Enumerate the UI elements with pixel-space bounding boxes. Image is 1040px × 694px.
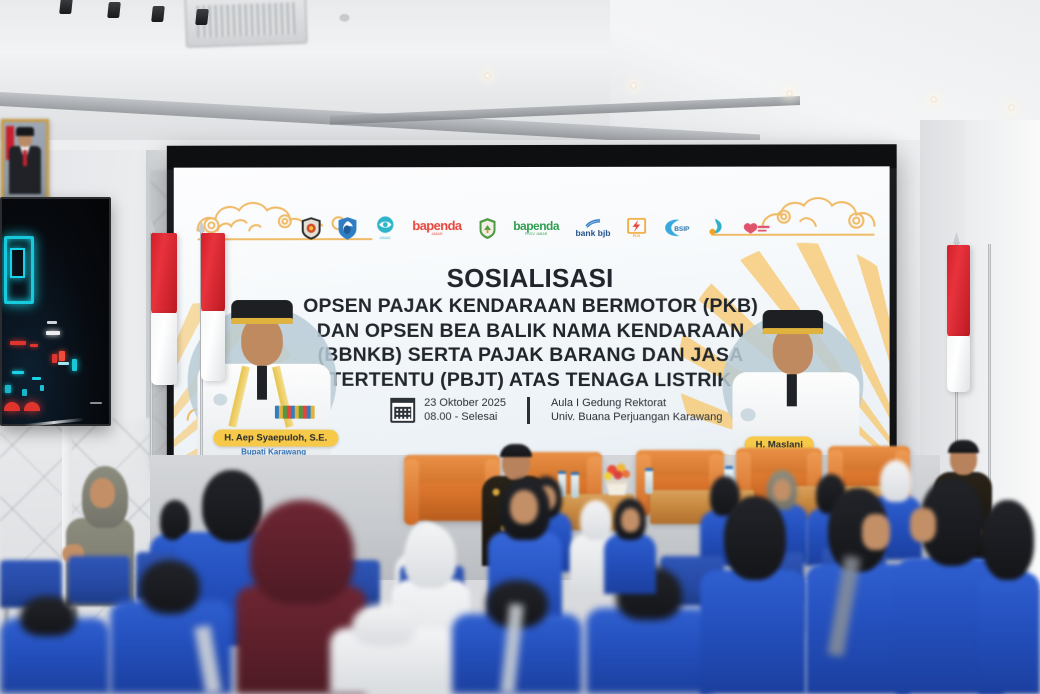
ceiling-spotlight — [786, 90, 793, 97]
event-time: 08.00 - Selesai — [424, 410, 506, 424]
indonesian-flag-left-2-red — [201, 233, 225, 313]
svg-text:BSIP: BSIP — [674, 226, 689, 233]
projection-screen: DINAS bapenda JABAR bapenda PROV JABAR b… — [174, 166, 890, 463]
water-bottle — [645, 468, 653, 494]
kejaksaan-logo — [338, 215, 358, 241]
official-photo-right: H. Maslani — [716, 288, 885, 464]
water-bottle — [571, 472, 579, 498]
bsip-logo: BSIP — [662, 215, 689, 241]
samsat-logo — [741, 215, 771, 241]
medal-ribbons — [275, 406, 315, 419]
indonesian-flag-left-1-red — [151, 233, 177, 315]
bapenda-jabar-logo: bapenda PROV JABAR — [513, 213, 559, 243]
calendar-icon — [390, 398, 415, 423]
ceiling-spotlight — [1008, 104, 1015, 111]
event-datetime: 23 Oktober 2025 08.00 - Selesai — [424, 397, 506, 424]
venue-line-2: Univ. Buana Perjuangan Karawang — [551, 411, 722, 425]
event-date: 23 Oktober 2025 — [424, 397, 506, 411]
indonesian-flag-right-white — [947, 336, 970, 392]
bapendo-logo: bapenda JABAR — [412, 213, 461, 243]
track-light — [195, 9, 209, 25]
audience-member-front — [978, 500, 1040, 694]
smoke-detector — [340, 14, 349, 20]
partner-logo — [706, 215, 724, 241]
official-name-badge-left: H. Aep Syaepuloh, S.E. — [213, 429, 338, 446]
presidential-portrait — [1, 119, 49, 201]
flower-basket — [600, 462, 634, 498]
instansi-logo: DINAS — [374, 215, 396, 241]
audience-member-front — [806, 488, 910, 694]
polri-logo — [301, 215, 322, 241]
audience-member-front — [0, 596, 110, 694]
track-light — [107, 2, 121, 18]
pemda-logo — [478, 215, 497, 241]
auditorium-photo: DINAS bapenda JABAR bapenda PROV JABAR b… — [0, 0, 1040, 694]
ceiling-spotlight — [484, 72, 491, 79]
sponsor-logo-row: DINAS bapenda JABAR bapenda PROV JABAR b… — [301, 211, 771, 245]
indonesian-flag-left-1-white — [151, 313, 177, 385]
ceiling-spotlight — [930, 96, 937, 103]
pln-logo: PLN — [627, 215, 646, 241]
info-divider — [527, 397, 530, 424]
ceiling-spotlight — [630, 82, 637, 89]
indonesian-flag-right-red — [947, 245, 970, 338]
bank-bjb-logo: bank bjb — [575, 214, 610, 242]
track-light — [59, 0, 73, 14]
venue-line-1: Aula I Gedung Rektorat — [551, 397, 722, 411]
wall-tv-display[interactable] — [0, 197, 111, 426]
projection-screen-frame: DINAS bapenda JABAR bapenda PROV JABAR b… — [167, 144, 897, 471]
tv-neon-sign-inner — [10, 248, 25, 278]
track-light — [151, 6, 165, 22]
indonesian-flag-left-2-white — [201, 311, 225, 381]
audience-member-front — [700, 496, 806, 694]
slide-info-bar: 23 Oktober 2025 08.00 - Selesai Aula I G… — [390, 397, 722, 424]
audience-member-front — [330, 604, 454, 694]
event-venue: Aula I Gedung Rektorat Univ. Buana Perju… — [551, 397, 722, 424]
audience-member — [604, 498, 656, 594]
